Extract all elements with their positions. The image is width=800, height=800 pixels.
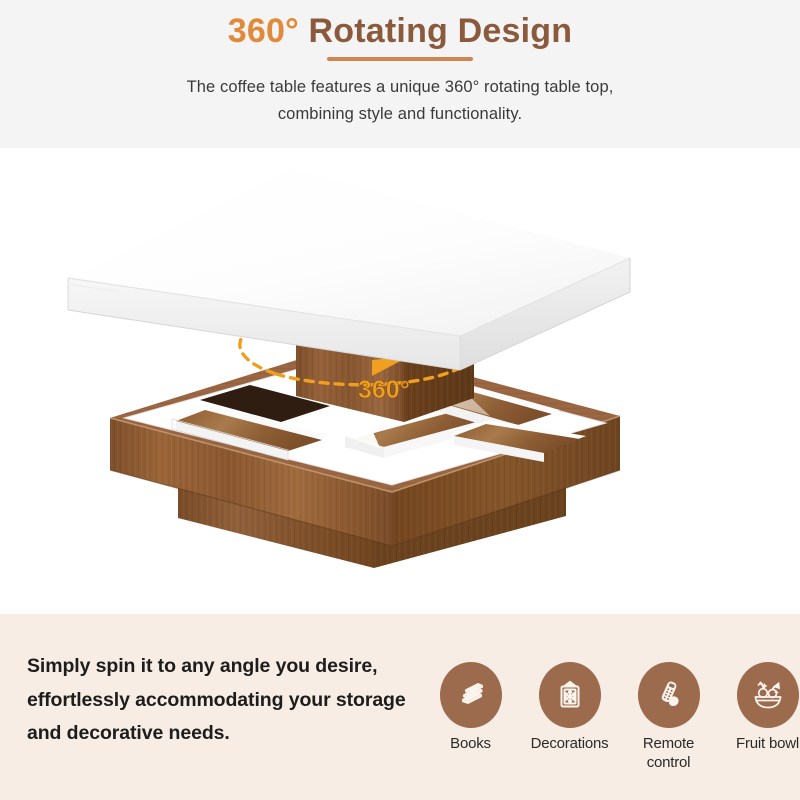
coffee-table-illustration: 360°	[0, 148, 800, 614]
fruit-bowl-icon	[737, 662, 799, 728]
page-title: 360° Rotating Design	[228, 12, 572, 51]
footer-line-3: and decorative needs.	[27, 717, 422, 751]
title-rest: Rotating Design	[299, 12, 572, 50]
rotating-table-top	[68, 168, 630, 370]
use-case-label: Remote control	[623, 735, 714, 773]
subtitle-line-1: The coffee table features a unique 360° …	[187, 74, 614, 101]
use-case-label: Books	[450, 735, 491, 754]
header-banner: 360° Rotating Design The coffee table fe…	[0, 0, 800, 148]
title-number: 360°	[228, 12, 299, 50]
use-case-label: Fruit bowl	[736, 735, 799, 754]
use-case-item-fruit-bowl[interactable]: Fruit bowl	[722, 662, 800, 773]
footer-banner: Simply spin it to any angle you desire, …	[0, 614, 800, 800]
footer-line-1: Simply spin it to any angle you desire,	[27, 650, 422, 684]
rotation-badge-label: 360°	[358, 376, 410, 404]
footer-line-2: effortlessly accommodating your storage	[27, 684, 422, 718]
title-divider	[327, 57, 473, 61]
use-case-item-remote-control[interactable]: Remote control	[623, 662, 714, 773]
books-icon	[440, 662, 502, 728]
picture-frame-icon	[539, 662, 601, 728]
remote-control-icon	[638, 662, 700, 728]
use-case-label: Decorations	[531, 735, 609, 754]
use-case-item-decorations[interactable]: Decorations	[524, 662, 615, 773]
footer-description: Simply spin it to any angle you desire, …	[27, 650, 422, 751]
subtitle-line-2: combining style and functionality.	[187, 101, 614, 128]
product-image-stage: 360°	[0, 148, 800, 614]
use-case-icon-list: Books	[425, 662, 800, 773]
use-case-item-books[interactable]: Books	[425, 662, 516, 773]
page-subtitle: The coffee table features a unique 360° …	[187, 74, 614, 127]
